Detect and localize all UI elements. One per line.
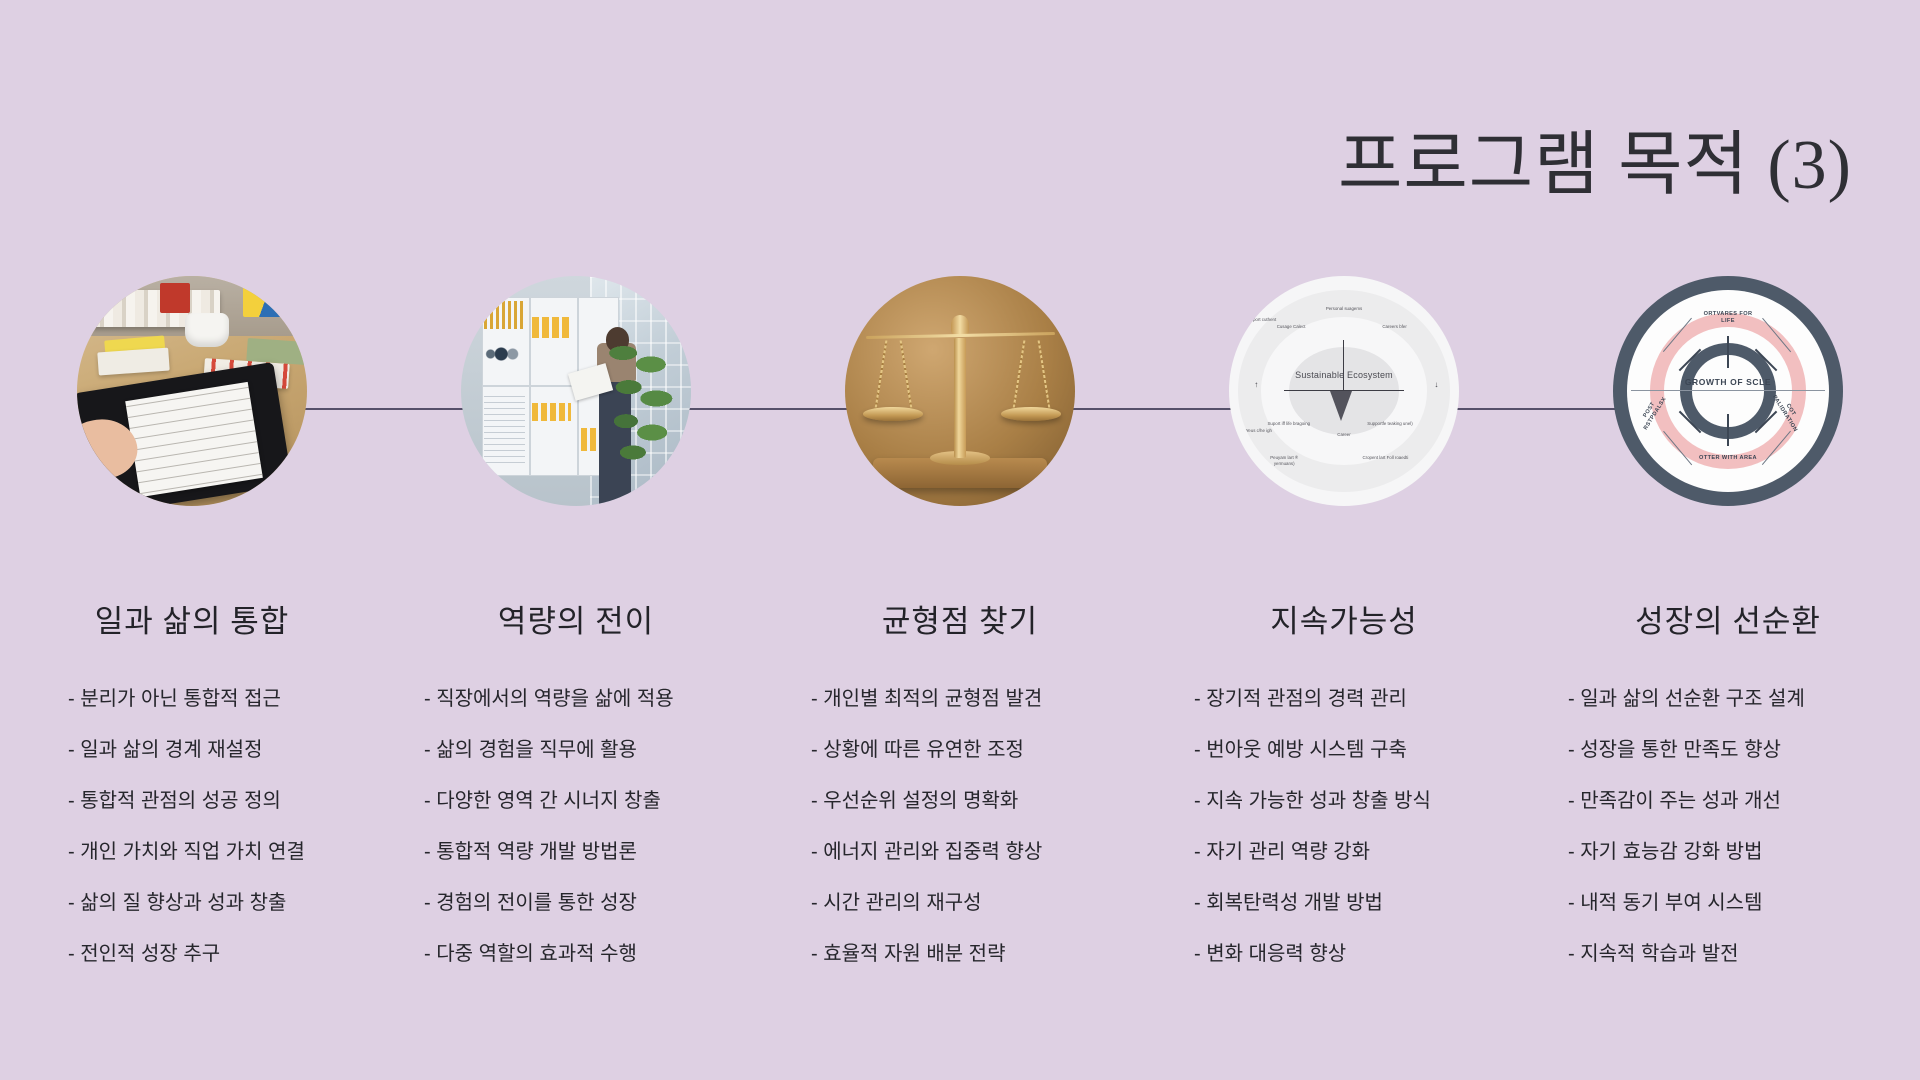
bullet-list: - 일과 삶의 선순환 구조 설계 - 성장을 통한 만족도 향상 - 만족감이…: [1568, 689, 1902, 964]
balance-scales-photo: [845, 276, 1075, 506]
list-item: - 일과 삶의 선순환 구조 설계: [1568, 689, 1902, 709]
list-item: - 삶의 경험을 직무에 활용: [424, 740, 750, 760]
list-item: - 개인별 최적의 균형점 발견: [811, 689, 1134, 709]
list-item: - 경험의 전이를 통한 성장: [424, 893, 750, 913]
list-item: - 시간 관리의 재구성: [811, 893, 1134, 913]
list-item: - 전인적 성장 추구: [68, 944, 366, 964]
eco-label-outer-left: Peuyam lart ® yermuans): [1261, 455, 1307, 466]
list-item: - 일과 삶의 경계 재설정: [68, 740, 366, 760]
eco-label-top: Personal suagems: [1321, 306, 1367, 312]
list-item: - 우선순위 설정의 명확화: [811, 791, 1134, 811]
list-item: - 지속 가능한 성과 창출 방식: [1194, 791, 1518, 811]
circle-cell-1: [0, 276, 384, 546]
circle-cell-5: GROWTH OF SCLE ORTVARES FOR LIFE OTTER W…: [1536, 276, 1920, 546]
growth-of-scale-diagram: GROWTH OF SCLE ORTVARES FOR LIFE OTTER W…: [1613, 276, 1843, 506]
list-item: - 번아웃 예방 시스템 구축: [1194, 740, 1518, 760]
list-item: - 직장에서의 역량을 삶에 적용: [424, 689, 750, 709]
circle-cell-4: ↑ ↓ Sustainable Ecosystem Personal suage…: [1152, 276, 1536, 546]
list-item: - 개인 가치와 직업 가치 연결: [68, 842, 366, 862]
list-item: - 자기 효능감 강화 방법: [1568, 842, 1902, 862]
eco-label-bottom: Career: [1321, 432, 1367, 438]
list-item: - 변화 대응력 향상: [1194, 944, 1518, 964]
desk-clipboard-photo: [77, 276, 307, 506]
list-item: - 지속적 학습과 발전: [1568, 944, 1902, 964]
circle-image-row: ↑ ↓ Sustainable Ecosystem Personal suage…: [0, 276, 1920, 546]
content-columns: 일과 삶의 통합 - 분리가 아닌 통합적 접근 - 일과 삶의 경계 재설정 …: [0, 596, 1920, 995]
list-item: - 회복탄력성 개발 방법: [1194, 893, 1518, 913]
list-item: - 내적 동기 부여 시스템: [1568, 893, 1902, 913]
list-item: - 자기 관리 역량 강화: [1194, 842, 1518, 862]
column-heading: 균형점 찾기: [786, 596, 1134, 641]
eco-center-label: Sustainable Ecosystem: [1229, 370, 1459, 381]
circle-cell-2: [384, 276, 768, 546]
sustainable-ecosystem-diagram: ↑ ↓ Sustainable Ecosystem Personal suage…: [1229, 276, 1459, 506]
eco-label-mid-left: sport cuthent: [1241, 317, 1287, 323]
list-item: - 통합적 역량 개발 방법론: [424, 842, 750, 862]
eco-label-outer-right: Cropent lart Foll roaedti: [1362, 455, 1408, 461]
list-item: - 통합적 관점의 성공 정의: [68, 791, 366, 811]
column-work-life-integration: 일과 삶의 통합 - 분리가 아닌 통합적 접근 - 일과 삶의 경계 재설정 …: [0, 596, 384, 995]
bullet-list: - 분리가 아닌 통합적 접근 - 일과 삶의 경계 재설정 - 통합적 관점의…: [68, 689, 366, 964]
list-item: - 다중 역할의 효과적 수행: [424, 944, 750, 964]
eco-label-bottom-right: Supportfe teaking unel): [1367, 421, 1413, 427]
eco-label-bottom-left: Suport iff life bragoing: [1266, 421, 1312, 427]
column-heading: 지속가능성: [1170, 596, 1518, 641]
list-item: - 삶의 질 향상과 성과 창출: [68, 893, 366, 913]
bullet-list: - 직장에서의 역량을 삶에 적용 - 삶의 경험을 직무에 활용 - 다양한 …: [424, 689, 750, 964]
eco-label-top-left: Cusage Calect: [1268, 324, 1314, 330]
column-heading: 성장의 선순환: [1554, 596, 1902, 641]
slide-root: 프로그램 목적 (3): [0, 0, 1920, 1080]
column-competency-transfer: 역량의 전이 - 직장에서의 역량을 삶에 적용 - 삶의 경험을 직무에 활용…: [384, 596, 768, 995]
list-item: - 장기적 관점의 경력 관리: [1194, 689, 1518, 709]
list-item: - 분리가 아닌 통합적 접근: [68, 689, 366, 709]
list-item: - 만족감이 주는 성과 개선: [1568, 791, 1902, 811]
list-item: - 효율적 자원 배분 전략: [811, 944, 1134, 964]
bullet-list: - 개인별 최적의 균형점 발견 - 상황에 따른 유연한 조정 - 우선순위 …: [811, 689, 1134, 964]
column-finding-balance: 균형점 찾기 - 개인별 최적의 균형점 발견 - 상황에 따른 유연한 조정 …: [768, 596, 1152, 995]
dashboard-wall-photo: [461, 276, 691, 506]
list-item: - 다양한 영역 간 시너지 창출: [424, 791, 750, 811]
column-heading: 역량의 전이: [402, 596, 750, 641]
list-item: - 에너지 관리와 집중력 향상: [811, 842, 1134, 862]
column-heading: 일과 삶의 통합: [18, 596, 366, 641]
page-title: 프로그램 목적 (3): [1338, 108, 1852, 209]
list-item: - 성장을 통한 만족도 향상: [1568, 740, 1902, 760]
growth-center-label: GROWTH OF SCLE: [1613, 377, 1843, 388]
column-virtuous-cycle-of-growth: 성장의 선순환 - 일과 삶의 선순환 구조 설계 - 성장을 통한 만족도 향…: [1536, 596, 1920, 995]
growth-label-top: ORTVARES FOR LIFE: [1698, 311, 1758, 326]
eco-label-top-right: Careers bfer: [1372, 324, 1418, 330]
circle-cell-3: [768, 276, 1152, 546]
column-sustainability: 지속가능성 - 장기적 관점의 경력 관리 - 번아웃 예방 시스템 구축 - …: [1152, 596, 1536, 995]
eco-label-lower-left: Yeus c/he igh: [1236, 428, 1282, 434]
bullet-list: - 장기적 관점의 경력 관리 - 번아웃 예방 시스템 구축 - 지속 가능한…: [1194, 689, 1518, 964]
growth-label-bottom: OTTER WITH AREA: [1698, 455, 1758, 462]
list-item: - 상황에 따른 유연한 조정: [811, 740, 1134, 760]
